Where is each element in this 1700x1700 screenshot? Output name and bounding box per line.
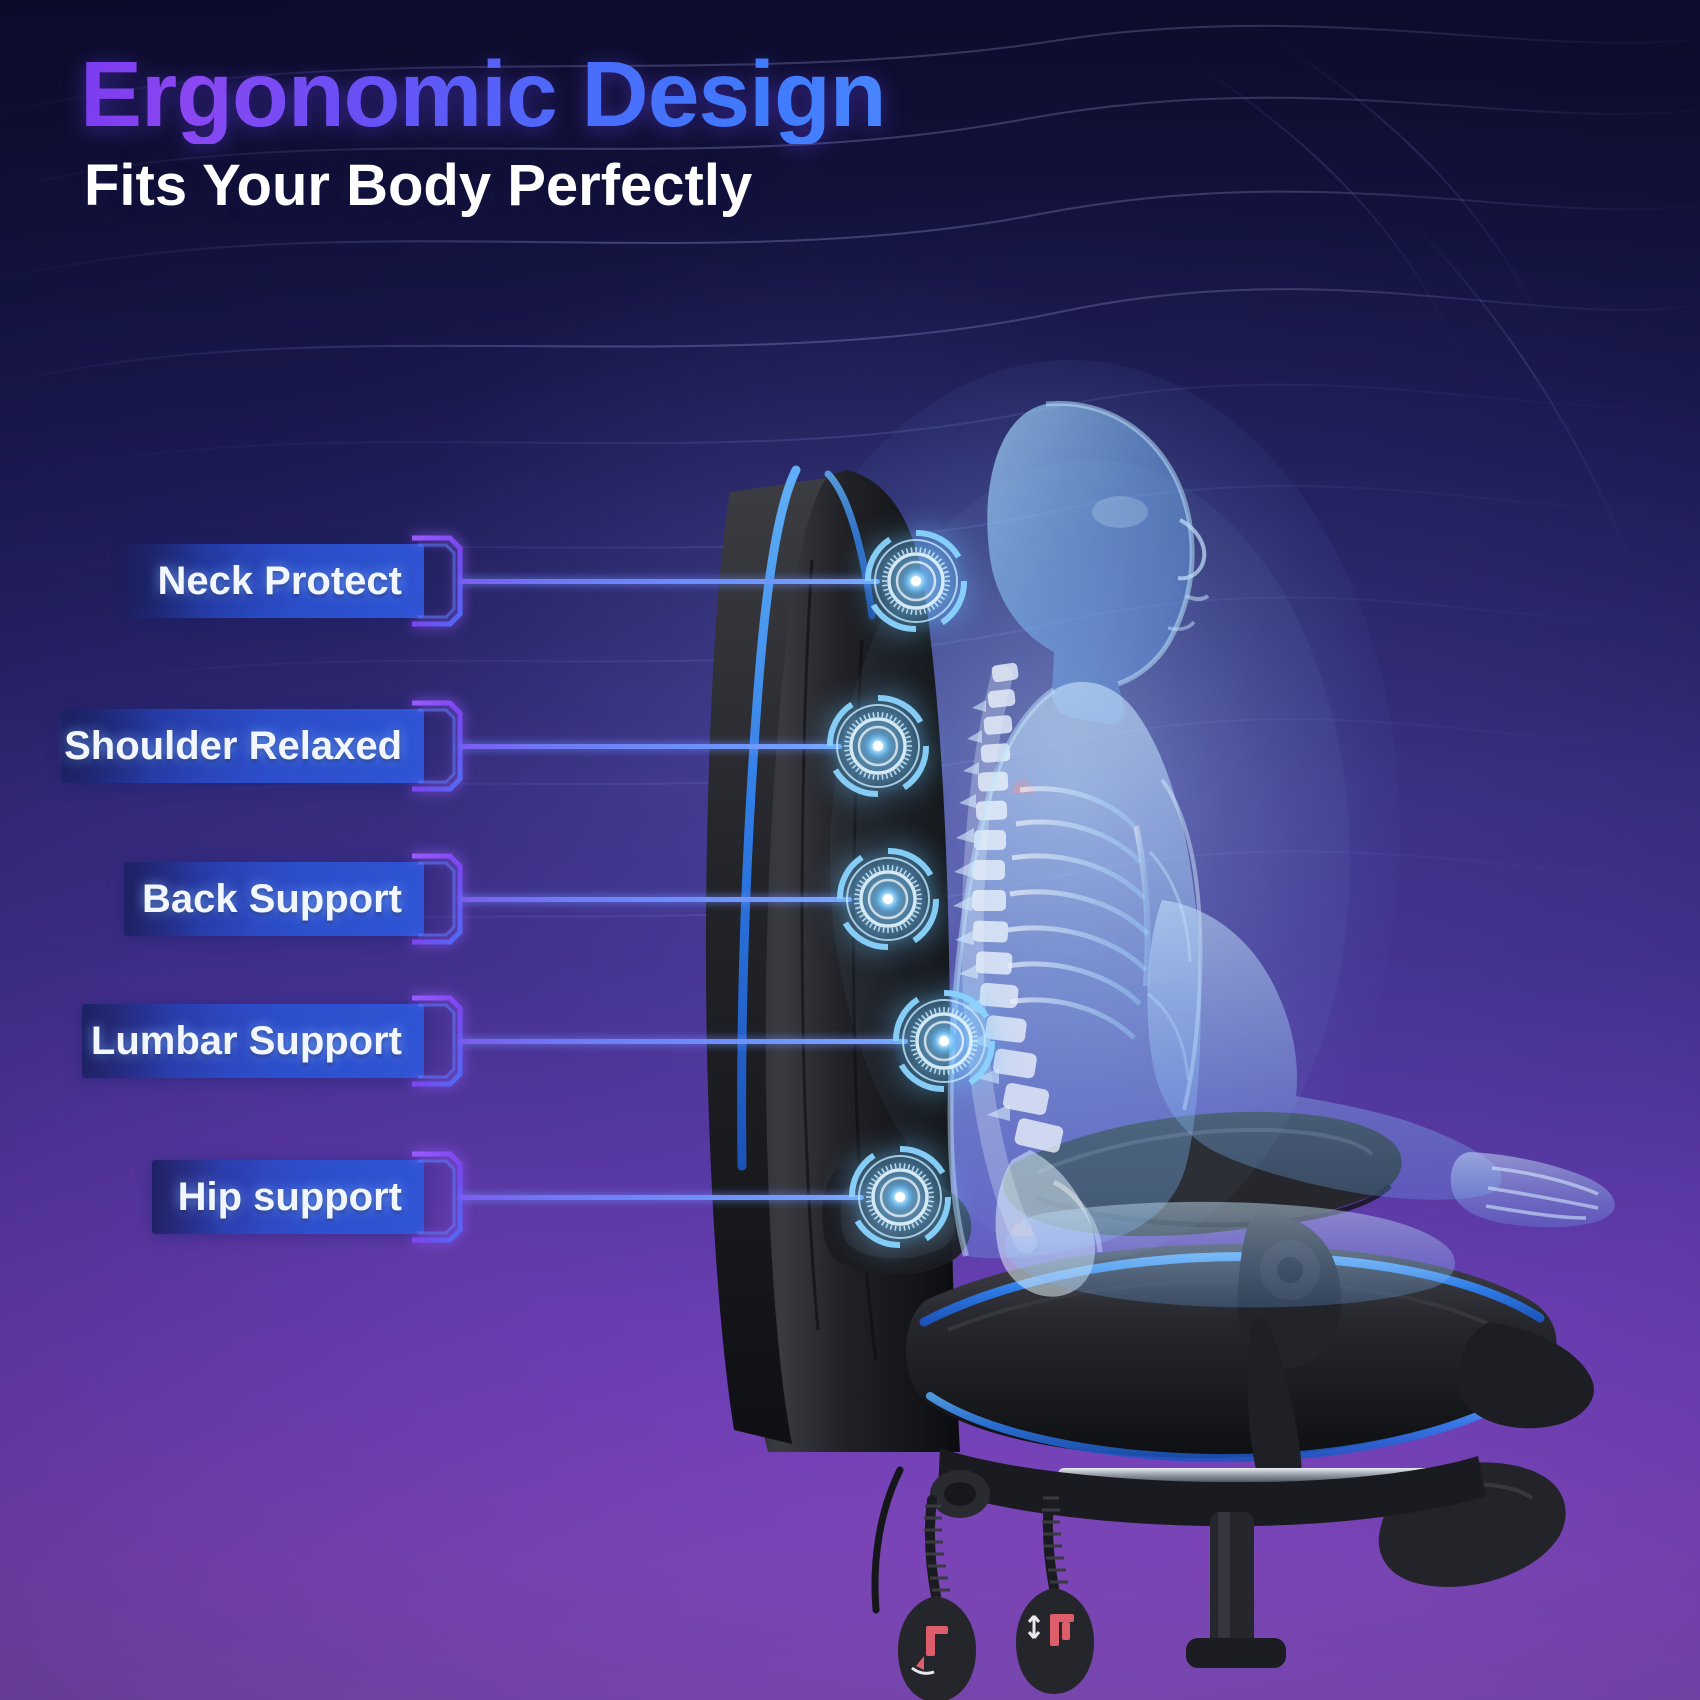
callout-label-back-support: Back Support — [142, 877, 402, 922]
callout-box-hip-support[interactable]: Hip support — [152, 1160, 424, 1234]
hotspot-marker-back-support[interactable] — [832, 843, 944, 955]
hotspot-marker-shoulder-relaxed[interactable] — [822, 690, 934, 802]
height-lever-tag — [1016, 1588, 1094, 1694]
hotspot-marker-neck-protect[interactable] — [860, 525, 972, 637]
page-subtitle: Fits Your Body Perfectly — [84, 152, 752, 219]
connector-line-hip-support — [460, 1195, 864, 1200]
callout-box-lumbar-support[interactable]: Lumbar Support — [82, 1004, 424, 1078]
connector-line-lumbar-support — [460, 1039, 908, 1044]
page-title: Ergonomic Design — [80, 46, 886, 144]
chair-base-mechanism — [875, 1448, 1486, 1700]
hotspot-marker-lumbar-support[interactable] — [888, 985, 1000, 1097]
connector-line-neck-protect — [460, 579, 880, 584]
connector-line-back-support — [460, 897, 852, 902]
callout-label-neck-protect: Neck Protect — [157, 559, 402, 604]
connector-line-shoulder-relaxed — [460, 744, 842, 749]
recline-lever-tag — [898, 1596, 976, 1700]
callout-label-shoulder-relaxed: Shoulder Relaxed — [64, 724, 402, 769]
hotspot-marker-hip-support[interactable] — [844, 1141, 956, 1253]
callout-neck-protect[interactable]: Neck Protect — [0, 544, 1700, 618]
infographic-canvas: Ergonomic Design Fits Your Body Perfectl… — [0, 0, 1700, 1700]
callout-label-lumbar-support: Lumbar Support — [91, 1019, 402, 1064]
callout-label-hip-support: Hip support — [178, 1175, 402, 1220]
callout-box-back-support[interactable]: Back Support — [124, 862, 424, 936]
callout-lumbar-support[interactable]: Lumbar Support — [0, 1004, 1700, 1078]
callout-box-shoulder-relaxed[interactable]: Shoulder Relaxed — [62, 709, 424, 783]
callout-box-neck-protect[interactable]: Neck Protect — [128, 544, 424, 618]
